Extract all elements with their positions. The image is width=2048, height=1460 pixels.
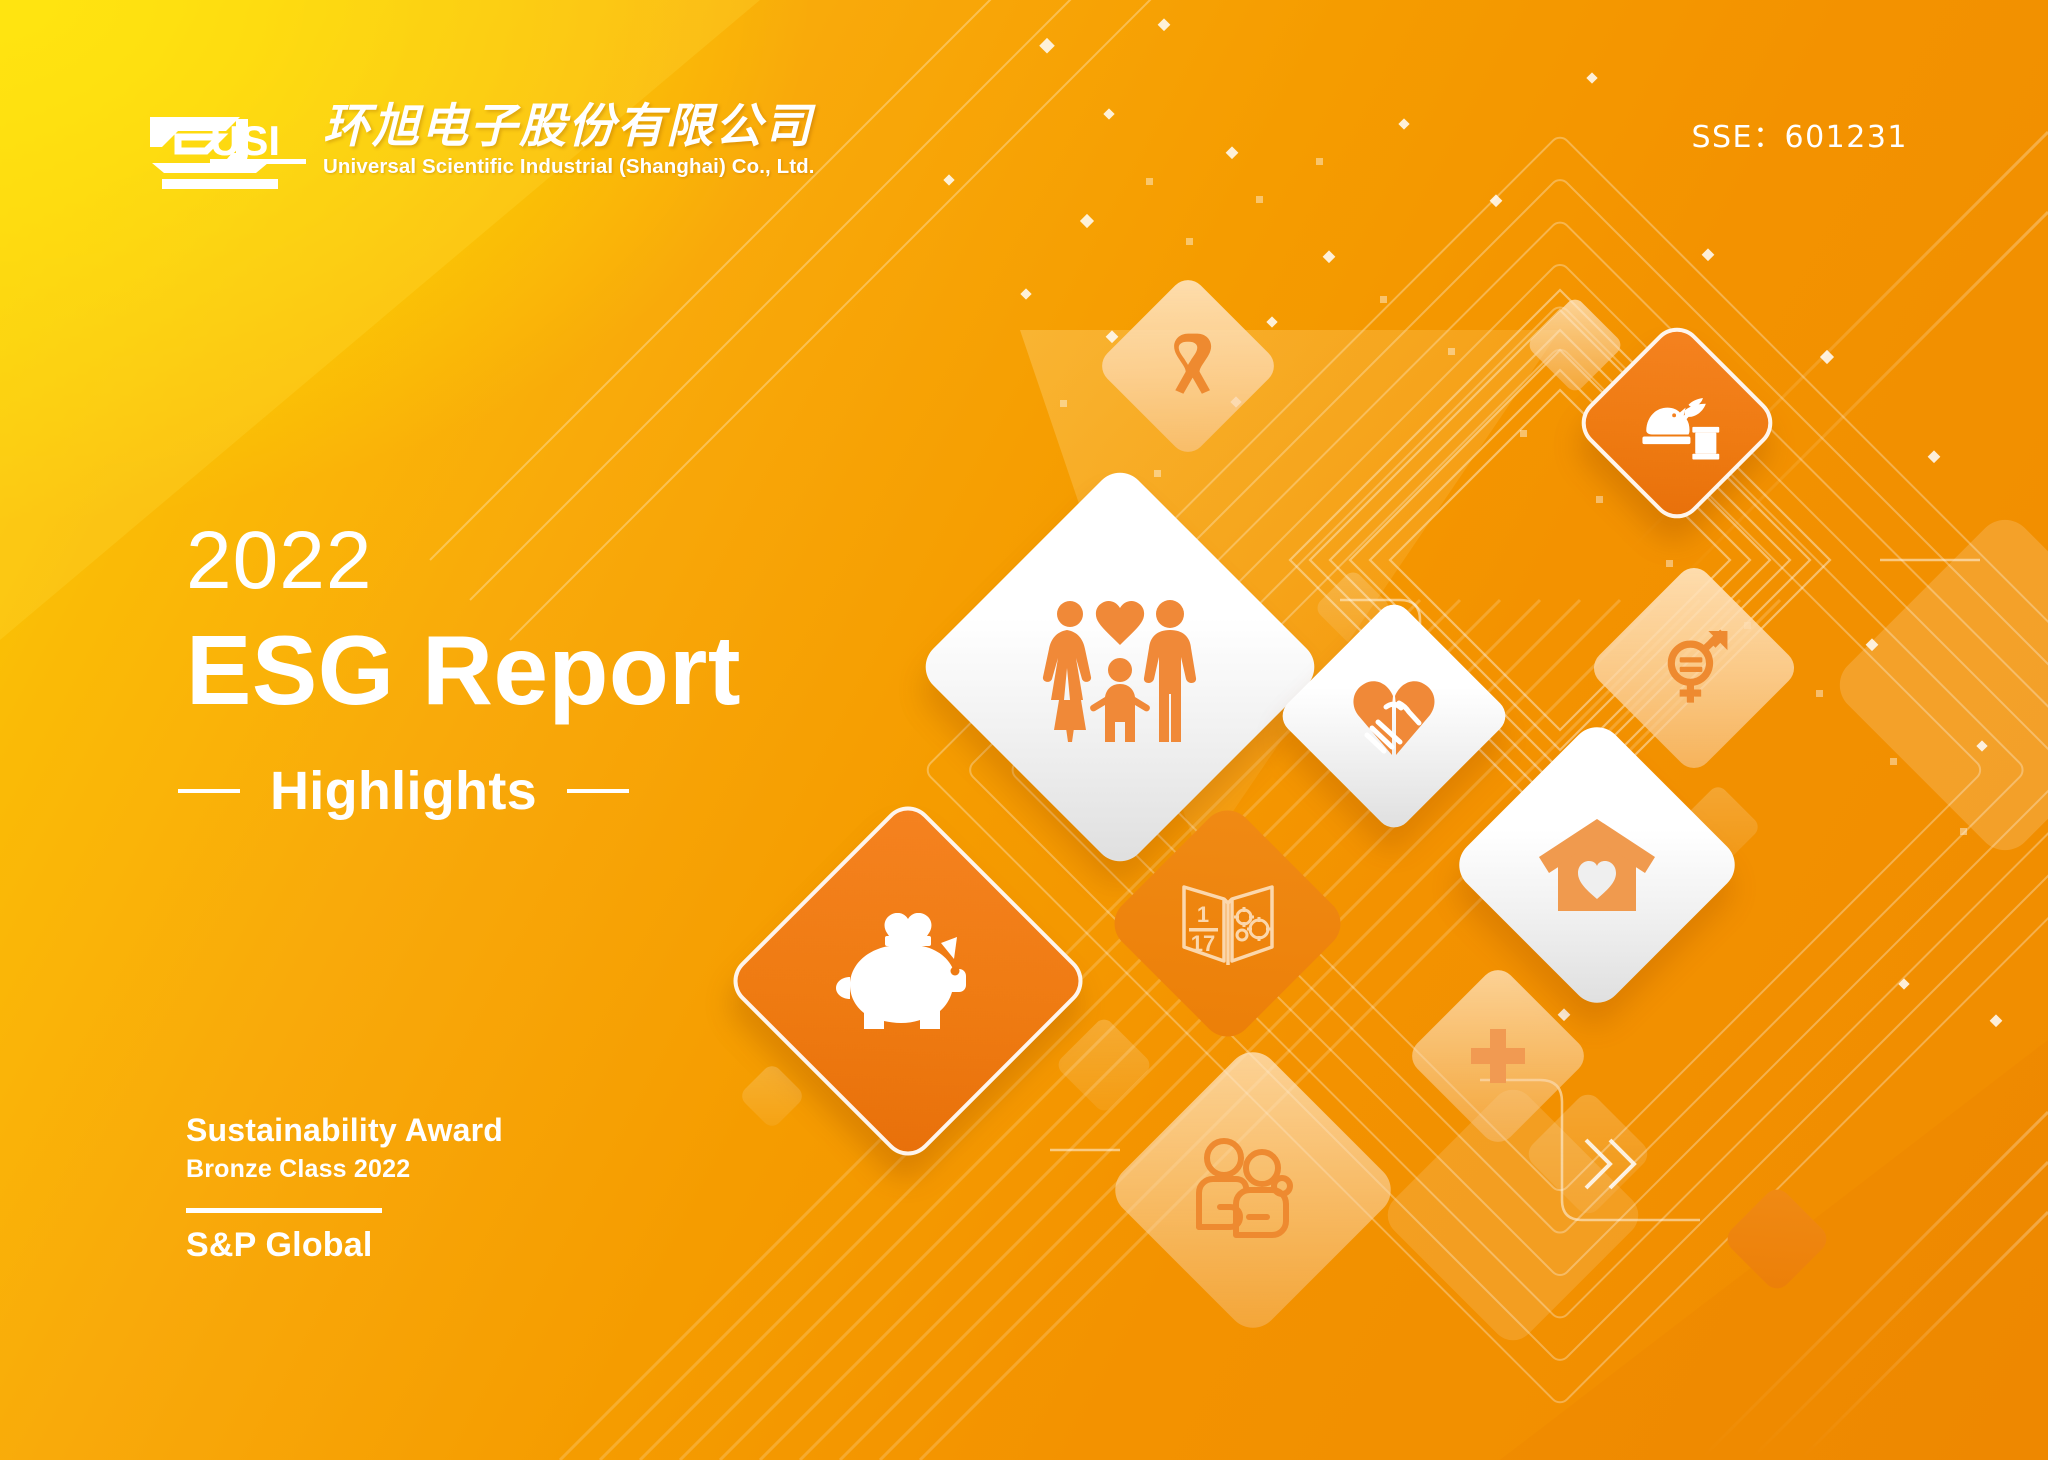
tile-elder-care bbox=[1148, 1085, 1358, 1295]
rule-right-icon bbox=[567, 789, 629, 793]
report-year: 2022 bbox=[186, 520, 741, 602]
tile-accent-small-7 bbox=[1540, 310, 1610, 380]
report-subtitle: Highlights bbox=[270, 760, 537, 822]
tile-accent-small-6 bbox=[1542, 1108, 1634, 1200]
usi-logo-mark: USI bbox=[148, 107, 313, 195]
tile-accent-small-5 bbox=[1738, 1200, 1816, 1278]
tile-family-heart bbox=[975, 522, 1265, 812]
company-name-en: Universal Scientific Industrial (Shangha… bbox=[323, 156, 815, 179]
family-heart-icon bbox=[1037, 592, 1203, 742]
award-class: Bronze Class 2022 bbox=[186, 1153, 606, 1186]
peace-dove-gavel-icon bbox=[1629, 380, 1725, 466]
sdg-numerator: 1 bbox=[1196, 902, 1208, 927]
tile-home-heart bbox=[1492, 760, 1702, 970]
tile-peace-dove bbox=[1602, 348, 1752, 498]
tile-gender-equality bbox=[1618, 592, 1770, 744]
elder-care-icon bbox=[1192, 1136, 1314, 1244]
tile-awareness-ribbon bbox=[1122, 300, 1254, 432]
subtitle-row: Highlights bbox=[178, 760, 741, 822]
piggy-bank-icon bbox=[829, 913, 987, 1049]
usi-logo: USI 环旭电子股份有限公司 Universal Scientific Indu… bbox=[148, 105, 815, 195]
title-block: 2022 ESG Report Highlights bbox=[186, 520, 741, 822]
medical-cross-icon bbox=[1467, 1025, 1529, 1087]
esg-report-cover: USI 环旭电子股份有限公司 Universal Scientific Indu… bbox=[0, 0, 2048, 1460]
cover-header: USI 环旭电子股份有限公司 Universal Scientific Indu… bbox=[0, 0, 2048, 230]
tile-accent-small-1 bbox=[1325, 580, 1381, 636]
tile-accent-small-4 bbox=[1687, 796, 1749, 858]
award-title: Sustainability Award bbox=[186, 1110, 606, 1150]
sustainability-award-badge: Sustainability Award Bronze Class 2022 S… bbox=[186, 1110, 606, 1265]
award-issuer: S&P Global bbox=[186, 1226, 606, 1265]
tile-accent-small-3 bbox=[748, 1072, 796, 1120]
tile-handshake-heart bbox=[1310, 632, 1478, 800]
report-title: ESG Report bbox=[186, 616, 741, 726]
tile-accent-small-2 bbox=[1069, 1030, 1139, 1100]
company-name-cn: 环旭电子股份有限公司 bbox=[323, 103, 815, 150]
handshake-heart-icon bbox=[1342, 670, 1446, 762]
sdg-book-icon: 1 17 bbox=[1176, 877, 1280, 971]
stock-code: SSE：601231 bbox=[1691, 112, 1908, 156]
tile-sdg-book: 1 17 bbox=[1140, 836, 1315, 1011]
rule-left-icon bbox=[178, 789, 240, 793]
awareness-ribbon-icon bbox=[1151, 329, 1225, 403]
svg-text:USI: USI bbox=[210, 117, 280, 164]
sdg-denominator: 17 bbox=[1190, 931, 1214, 956]
home-heart-icon bbox=[1536, 813, 1658, 917]
award-divider bbox=[186, 1208, 382, 1213]
tile-piggy-bank bbox=[777, 850, 1039, 1112]
tile-medical-cross bbox=[1432, 990, 1564, 1122]
gender-equality-icon bbox=[1651, 625, 1737, 711]
